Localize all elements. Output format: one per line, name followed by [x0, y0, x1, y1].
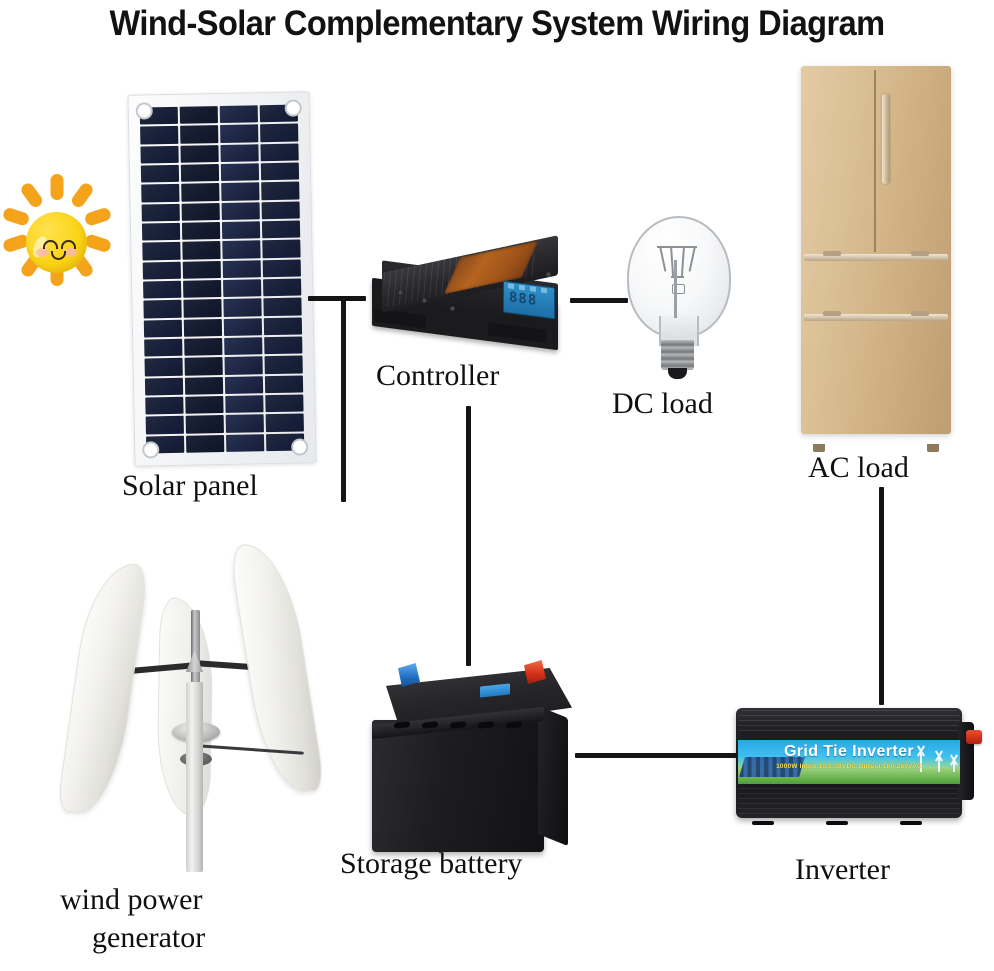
wire-controller-to-dc-load	[570, 298, 628, 303]
solar-cell	[225, 376, 263, 394]
solar-cell	[260, 124, 298, 142]
incandescent-bulb-icon	[617, 216, 737, 386]
ac-load-label: AC load	[808, 452, 909, 484]
wire-controller-to-battery	[466, 406, 471, 666]
solar-cell	[225, 357, 263, 375]
refrigerator-icon	[801, 66, 951, 446]
solar-cell	[262, 201, 300, 219]
lead-acid-battery-icon	[372, 660, 572, 855]
solar-cell	[184, 319, 222, 337]
solar-cell	[264, 336, 302, 354]
solar-cell	[220, 144, 258, 162]
solar-cell	[261, 163, 299, 181]
solar-cell	[221, 163, 259, 181]
solar-cell	[222, 241, 260, 259]
solar-cell	[144, 319, 182, 337]
solar-cell	[265, 375, 303, 393]
solar-cell	[146, 416, 184, 434]
vertical-axis-wind-turbine-icon	[60, 532, 335, 872]
inverter-brand-text: Grid Tie Inverter	[738, 744, 960, 761]
solar-cell	[183, 299, 221, 317]
grid-tie-inverter-icon: Grid Tie Inverter 1000W Input 10.5-30VDC…	[730, 702, 980, 827]
solar-cell	[221, 183, 259, 201]
inverter-label: Inverter	[795, 854, 890, 886]
solar-cell	[186, 415, 224, 433]
solar-cell	[261, 182, 299, 200]
solar-cell	[141, 184, 179, 202]
solar-cell	[143, 300, 181, 318]
smiling-sun-icon	[4, 190, 109, 295]
solar-cell	[222, 221, 260, 239]
solar-panel-icon	[127, 91, 316, 466]
solar-cell	[226, 434, 264, 452]
solar-cell	[226, 415, 264, 433]
solar-cell	[183, 261, 221, 279]
solar-cell	[224, 337, 262, 355]
solar-cell	[182, 203, 220, 221]
solar-cell	[142, 223, 180, 241]
solar-cell	[180, 125, 218, 143]
wind-generator-label-line1: wind power	[60, 884, 202, 916]
solar-cell	[262, 220, 300, 238]
solar-cell	[265, 394, 303, 412]
solar-cell	[263, 278, 301, 296]
wind-generator-label-line2: generator	[92, 922, 205, 954]
solar-cell	[144, 339, 182, 357]
solar-cell	[142, 203, 180, 221]
solar-cell	[181, 183, 219, 201]
solar-cell	[143, 261, 181, 279]
storage-battery-label: Storage battery	[340, 848, 522, 880]
solar-cell	[222, 202, 260, 220]
solar-cell	[142, 242, 180, 260]
solar-cell	[186, 435, 224, 453]
wire-solar-panel-to-junction	[308, 296, 366, 301]
solar-cell	[182, 241, 220, 259]
solar-cell	[180, 106, 218, 124]
page-title: Wind-Solar Complementary System Wiring D…	[35, 0, 959, 48]
solar-cell	[141, 165, 179, 183]
controller-display-value: 888	[509, 290, 537, 308]
dc-load-label: DC load	[612, 388, 713, 420]
solar-cell	[262, 240, 300, 258]
solar-cell	[182, 222, 220, 240]
wire-battery-to-inverter	[575, 753, 737, 758]
wire-inverter-to-ac-load	[879, 487, 884, 705]
charge-controller-icon: 888	[360, 228, 570, 353]
controller-label: Controller	[376, 360, 499, 392]
inverter-spec-text: 1000W Input 10.5-30VDC Output 180-260VAC	[738, 764, 960, 771]
controller-display: 888	[503, 281, 555, 320]
solar-cell	[181, 164, 219, 182]
solar-cell	[145, 377, 183, 395]
solar-cell	[260, 143, 298, 161]
wire-junction-drop	[341, 296, 346, 502]
solar-cell	[140, 145, 178, 163]
solar-cell	[224, 318, 262, 336]
solar-cell	[223, 260, 261, 278]
solar-cell	[185, 377, 223, 395]
solar-cell	[185, 396, 223, 414]
solar-cell	[180, 145, 218, 163]
solar-cell	[264, 356, 302, 374]
solar-cell	[183, 280, 221, 298]
solar-cell	[145, 358, 183, 376]
solar-cell	[184, 338, 222, 356]
solar-panel-label: Solar panel	[122, 470, 258, 502]
wiring-diagram-canvas: Wind-Solar Complementary System Wiring D…	[0, 0, 994, 971]
solar-cell	[266, 414, 304, 432]
solar-cell	[185, 357, 223, 375]
bulb-filament	[657, 246, 697, 292]
solar-cell	[220, 125, 258, 143]
solar-cell	[143, 281, 181, 299]
inverter-brand-label: Grid Tie Inverter 1000W Input 10.5-30VDC…	[738, 740, 960, 784]
solar-cell	[263, 298, 301, 316]
solar-cell	[223, 279, 261, 297]
solar-cell	[225, 395, 263, 413]
solar-cell	[223, 299, 261, 317]
solar-cell	[220, 105, 258, 123]
inverter-terminal-post	[966, 730, 982, 744]
solar-cell	[140, 126, 178, 144]
solar-cell	[264, 317, 302, 335]
solar-cell	[145, 397, 183, 415]
fridge-handle	[882, 94, 890, 184]
solar-cell	[263, 259, 301, 277]
